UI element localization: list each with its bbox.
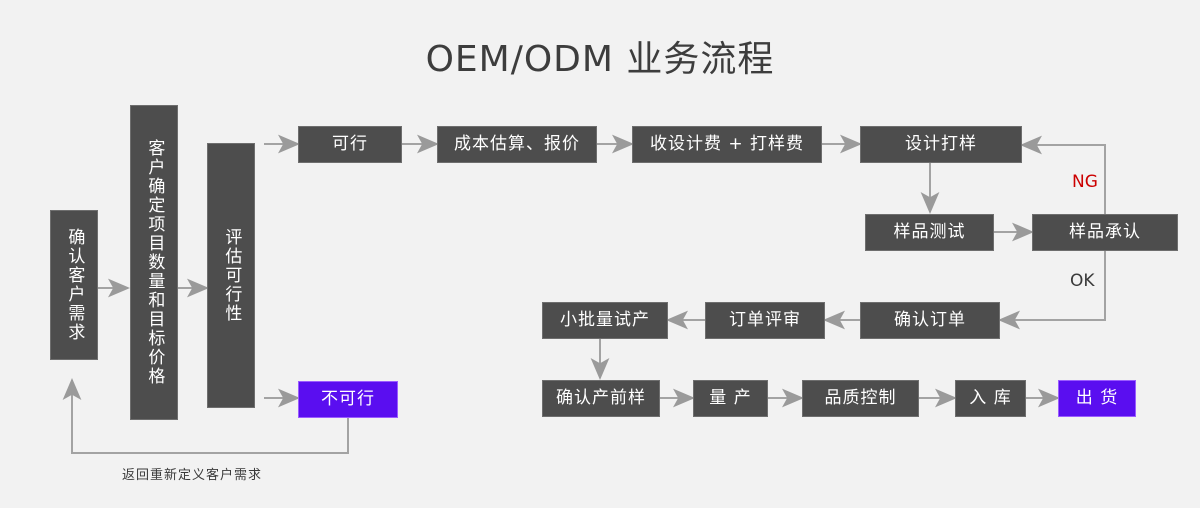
node-small-batch-trial[interactable]: 小批量试产 <box>542 302 668 339</box>
node-assess-feasibility[interactable]: 评估可行性 <box>207 143 255 408</box>
node-quality-control[interactable]: 品质控制 <box>802 380 919 417</box>
connector-layer <box>0 0 1200 508</box>
edge-label-return-caption: 返回重新定义客户需求 <box>122 464 262 483</box>
node-shipment[interactable]: 出 货 <box>1058 380 1136 417</box>
node-confirm-order[interactable]: 确认订单 <box>860 302 1000 339</box>
node-mass-production[interactable]: 量 产 <box>693 380 768 417</box>
node-design-sample[interactable]: 设计打样 <box>860 126 1022 163</box>
node-cost-estimate-quote[interactable]: 成本估算、报价 <box>437 126 597 163</box>
node-sample-test[interactable]: 样品测试 <box>865 214 994 251</box>
edge-label-ng: NG <box>1072 172 1098 192</box>
edge-label-ok: OK <box>1070 271 1095 291</box>
node-not-feasible[interactable]: 不可行 <box>298 381 398 418</box>
flowchart-canvas: OEM/ODM 业务流程 <box>0 0 1200 508</box>
node-design-sampling-fee[interactable]: 收设计费 + 打样费 <box>632 126 822 163</box>
node-sample-approval[interactable]: 样品承认 <box>1032 214 1178 251</box>
node-customer-define-project[interactable]: 客户确定项目数量和目标价格 <box>130 105 178 420</box>
node-order-review[interactable]: 订单评审 <box>705 302 825 339</box>
node-confirm-customer-need[interactable]: 确认客户需求 <box>50 210 98 360</box>
node-feasible[interactable]: 可行 <box>298 126 402 163</box>
node-warehousing[interactable]: 入 库 <box>955 380 1026 417</box>
node-confirm-preproduction-sample[interactable]: 确认产前样 <box>542 380 660 417</box>
